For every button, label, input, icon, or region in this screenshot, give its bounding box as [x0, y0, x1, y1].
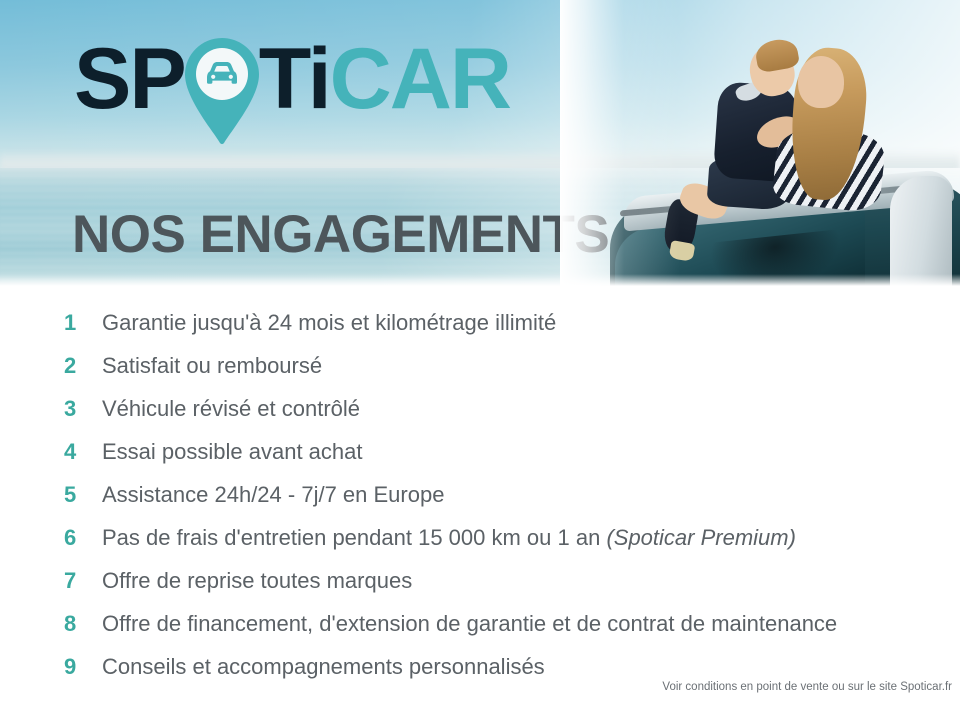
list-item-number: 5 [64, 482, 102, 508]
list-item: 8 Offre de financement, d'extension de g… [64, 611, 944, 654]
list-item-number: 8 [64, 611, 102, 637]
list-item-number: 9 [64, 654, 102, 680]
list-item-text: Assistance 24h/24 - 7j/7 en Europe [102, 482, 444, 508]
list-item: 4 Essai possible avant achat [64, 439, 944, 482]
hero-banner: SP Ti CAR NOS ENGAGEMENTS [0, 0, 960, 286]
list-item-number: 2 [64, 353, 102, 379]
page-title: NOS ENGAGEMENTS [72, 204, 609, 265]
list-item: 6 Pas de frais d'entretien pendant 15 00… [64, 525, 944, 568]
list-item-number: 1 [64, 310, 102, 336]
list-item-text: Pas de frais d'entretien pendant 15 000 … [102, 525, 796, 551]
list-item-text: Offre de financement, d'extension de gar… [102, 611, 837, 637]
list-item-text: Garantie jusqu'à 24 mois et kilométrage … [102, 310, 556, 336]
family-on-car-photo [560, 0, 960, 286]
car-pillar [890, 176, 952, 286]
list-item: 7 Offre de reprise toutes marques [64, 568, 944, 611]
logo-text-car: CAR [330, 36, 510, 122]
hero-bottom-fade [0, 274, 960, 286]
list-item: 3 Véhicule révisé et contrôlé [64, 396, 944, 439]
logo-text-sp: SP [74, 36, 185, 122]
list-item-number: 4 [64, 439, 102, 465]
list-item-number: 6 [64, 525, 102, 551]
commitments-list: 1 Garantie jusqu'à 24 mois et kilométrag… [64, 310, 944, 697]
logo-text-ti: Ti [259, 36, 330, 122]
legal-note: Voir conditions en point de vente ou sur… [352, 681, 952, 693]
list-item-text: Conseils et accompagnements personnalisé… [102, 654, 545, 680]
woman-head [798, 56, 844, 108]
list-item-number: 3 [64, 396, 102, 422]
map-pin-car-icon [183, 36, 261, 114]
spoticar-logo[interactable]: SP Ti CAR [74, 36, 510, 136]
list-item: 5 Assistance 24h/24 - 7j/7 en Europe [64, 482, 944, 525]
list-item: 1 Garantie jusqu'à 24 mois et kilométrag… [64, 310, 944, 353]
list-item-number: 7 [64, 568, 102, 594]
list-item: 2 Satisfait ou remboursé [64, 353, 944, 396]
list-item-text: Essai possible avant achat [102, 439, 363, 465]
list-item-text: Véhicule révisé et contrôlé [102, 396, 360, 422]
list-item-text: Satisfait ou remboursé [102, 353, 322, 379]
list-item-text: Offre de reprise toutes marques [102, 568, 412, 594]
spoticar-commitments-poster: SP Ti CAR NOS ENGAGEMENTS 1 Ga [0, 0, 960, 720]
